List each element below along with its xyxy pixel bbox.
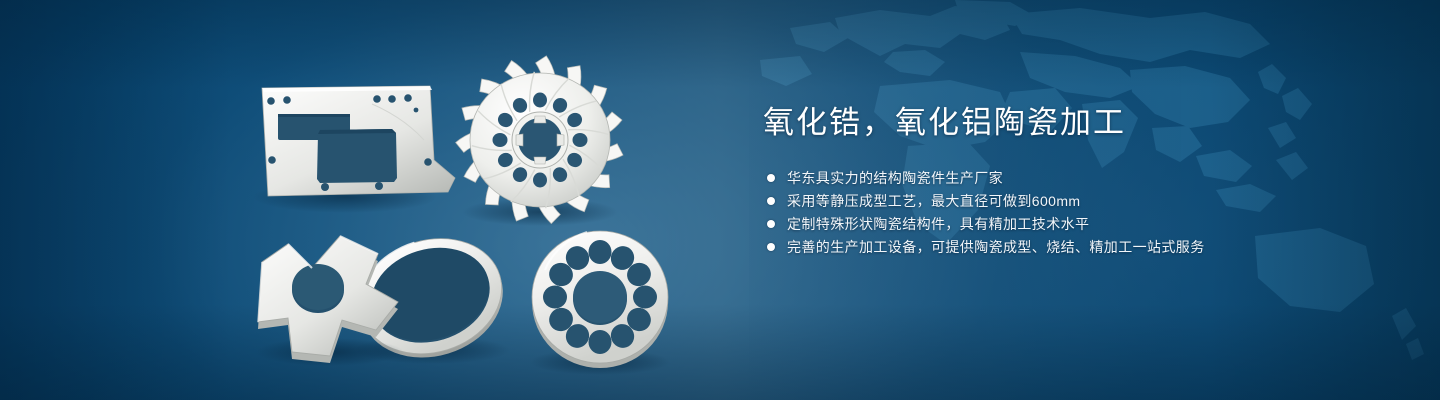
page-title: 氧化锆，氧化铝陶瓷加工 — [763, 103, 1403, 143]
feature-text: 完善的生产加工设备，可提供陶瓷成型、烧结、精加工一站式服务 — [787, 236, 1205, 259]
list-item: 完善的生产加工设备，可提供陶瓷成型、烧结、精加工一站式服务 — [767, 236, 1403, 259]
ceramic-perforated-disc — [530, 231, 670, 375]
hero-banner: 氧化锆，氧化铝陶瓷加工 华东具实力的结构陶瓷件生产厂家 采用等静压成型工艺，最大… — [0, 0, 1440, 400]
list-item: 定制特殊形状陶瓷结构件，具有精加工技术水平 — [767, 213, 1403, 236]
feature-text: 定制特殊形状陶瓷结构件，具有精加工技术水平 — [787, 213, 1089, 236]
feature-list: 华东具实力的结构陶瓷件生产厂家 采用等静压成型工艺，最大直径可做到600mm 定… — [767, 167, 1403, 259]
banner-copy: 氧化锆，氧化铝陶瓷加工 华东具实力的结构陶瓷件生产厂家 采用等静压成型工艺，最大… — [763, 103, 1403, 259]
list-item: 采用等静压成型工艺，最大直径可做到600mm — [767, 190, 1403, 213]
bullet-dot-icon — [767, 197, 775, 205]
bullet-dot-icon — [767, 220, 775, 228]
bullet-dot-icon — [767, 174, 775, 182]
ceramic-plate — [253, 86, 455, 213]
bullet-dot-icon — [767, 243, 775, 251]
product-photo-cluster — [0, 0, 760, 400]
list-item: 华东具实力的结构陶瓷件生产厂家 — [767, 167, 1403, 190]
ceramic-impeller — [454, 53, 626, 226]
feature-text: 华东具实力的结构陶瓷件生产厂家 — [787, 167, 1003, 190]
feature-text: 采用等静压成型工艺，最大直径可做到600mm — [787, 190, 1080, 213]
ceramic-cross-part — [256, 236, 404, 366]
